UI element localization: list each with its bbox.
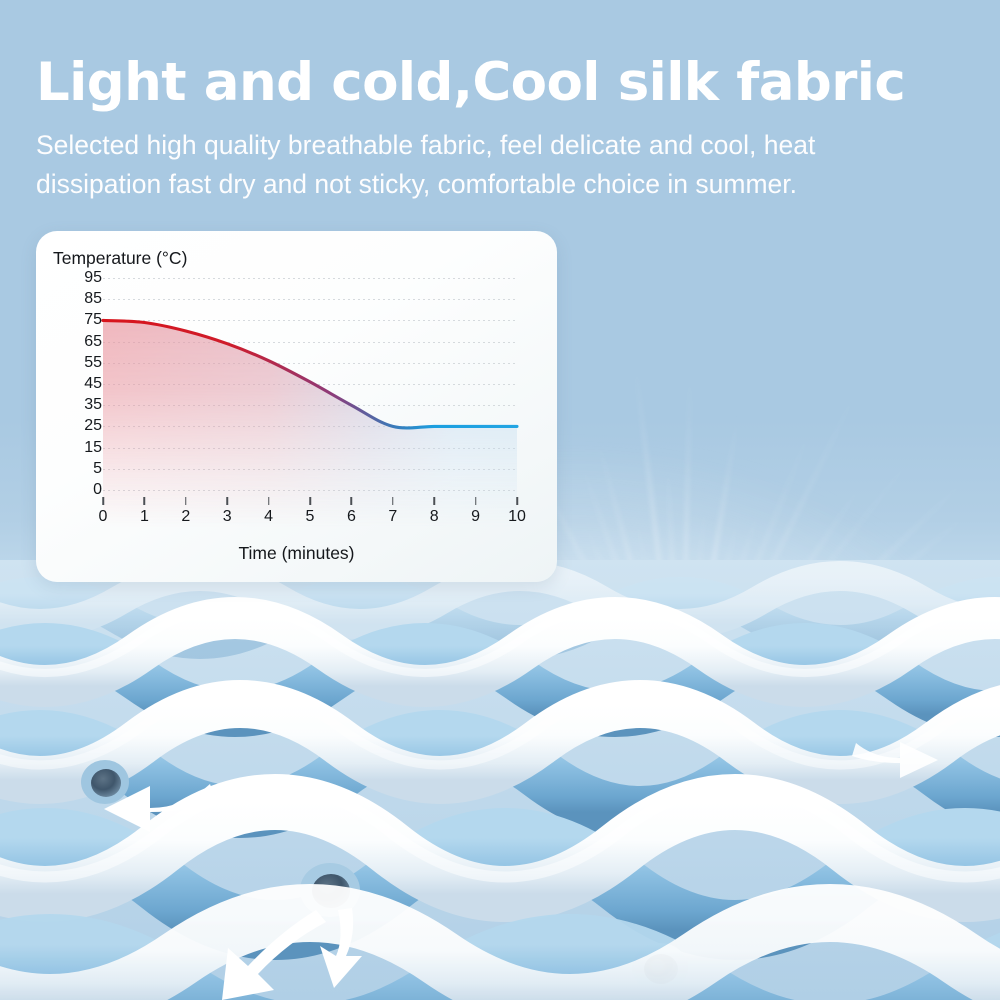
chart-x-tick: 1 [140,509,149,525]
chart-y-tick: 5 [93,461,102,477]
chart-y-tick: 55 [84,355,102,371]
chart-y-tick-labels: 95857565554535251550 [58,278,102,490]
woven-fabric-illustration [0,560,1000,1000]
chart-x-tickmark [102,497,104,505]
chart-x-tickmark [268,497,270,505]
chart-y-tick: 0 [93,482,102,498]
chart-x-tickmark [516,497,518,505]
chart-x-tickmark [185,497,187,505]
page-subcopy: Selected high quality breathable fabric,… [36,126,866,204]
chart-x-tickmark [392,497,394,505]
chart-x-tick: 2 [181,509,190,525]
chart-series-area [103,278,517,528]
chart-y-tick: 15 [84,440,102,456]
chart-x-tickmark [226,497,228,505]
chart-y-tick: 75 [84,312,102,328]
chart-y-tick: 95 [84,270,102,286]
headline-block: Light and cold,Cool silk fabric Selected… [36,56,936,204]
product-infographic: Light and cold,Cool silk fabric Selected… [0,0,1000,1000]
chart-y-tick: 35 [84,397,102,413]
temperature-chart-card: Temperature (°C) 95857565554535251550 [36,231,557,582]
subcopy-line-2: dissipation fast dry and not sticky, com… [36,165,866,204]
chart-x-axis-title: Time (minutes) [36,543,557,564]
chart-x-tick: 10 [508,509,526,525]
chart-x-tick: 9 [471,509,480,525]
chart-plot-wrap: 95857565554535251550 [36,231,557,582]
chart-x-tick: 4 [264,509,273,525]
chart-x-tickmark [144,497,146,505]
chart-x-tick: 6 [347,509,356,525]
chart-x-axis: 012345678910 [103,497,517,541]
page-title: Light and cold,Cool silk fabric [36,56,936,110]
chart-y-tick: 25 [84,418,102,434]
chart-x-tickmark [433,497,435,505]
chart-y-tick: 45 [84,376,102,392]
subcopy-line-1: Selected high quality breathable fabric,… [36,126,866,165]
chart-x-tickmark [309,497,311,505]
chart-x-tickmark [351,497,353,505]
chart-y-tick: 85 [84,291,102,307]
chart-x-tick: 7 [388,509,397,525]
chart-x-tick: 5 [306,509,315,525]
chart-x-tick: 8 [430,509,439,525]
chart-x-tickmark [475,497,477,505]
chart-x-tick: 0 [99,509,108,525]
chart-y-tick: 65 [84,334,102,350]
chart-x-tick: 3 [223,509,232,525]
